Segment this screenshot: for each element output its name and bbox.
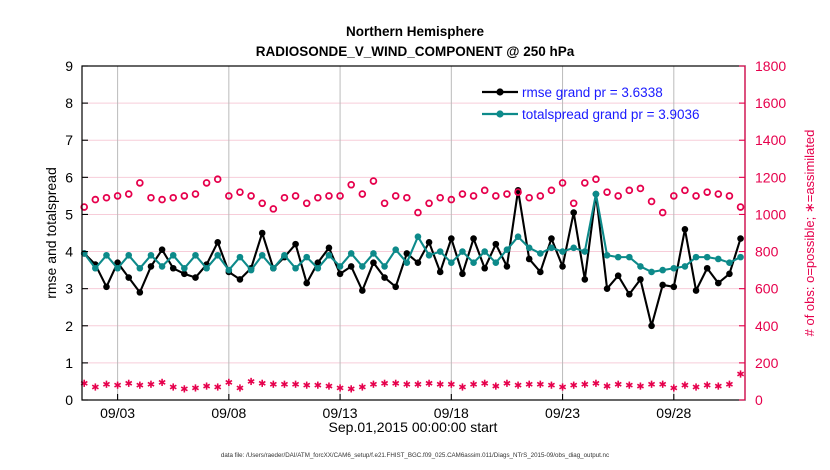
- data-point-marker: [437, 269, 444, 276]
- data-point-marker: [125, 274, 132, 281]
- data-point-marker: [481, 265, 488, 272]
- data-point-marker: [181, 265, 188, 272]
- data-point-marker: [493, 259, 500, 266]
- data-point-marker: [259, 252, 266, 259]
- data-point-marker: [137, 265, 144, 272]
- left-tick-label: 6: [65, 169, 73, 185]
- data-point-marker: [359, 263, 366, 270]
- data-point-marker: [693, 254, 700, 261]
- data-point-marker: [470, 259, 477, 266]
- data-point-marker: [337, 271, 344, 278]
- right-tick-label: 1600: [755, 95, 786, 111]
- data-point-marker: [559, 248, 566, 255]
- data-point-marker: [92, 265, 99, 272]
- bottom-tick-label: 09/08: [211, 405, 246, 421]
- right-tick-label: 200: [755, 355, 779, 371]
- bottom-tick-label: 09/28: [656, 405, 691, 421]
- chart-figure: Northern Hemisphere RADIOSONDE_V_WIND_CO…: [0, 0, 830, 470]
- data-point-marker: [615, 272, 622, 279]
- right-tick-label: 1800: [755, 58, 786, 74]
- data-point-marker: [570, 245, 577, 252]
- data-point-marker: [537, 269, 544, 276]
- data-point-marker: [637, 276, 644, 283]
- data-point-marker: [170, 265, 177, 272]
- data-point-marker: [237, 254, 244, 261]
- legend-item-label-0[interactable]: rmse grand pr = 3.6338: [522, 85, 663, 100]
- data-point-marker: [459, 248, 466, 255]
- data-point-marker: [315, 265, 322, 272]
- bottom-tick-label: 09/23: [545, 405, 580, 421]
- data-point-marker: [326, 252, 333, 259]
- data-point-marker: [270, 265, 277, 272]
- data-point-marker: [559, 263, 566, 270]
- data-point-marker: [671, 284, 678, 291]
- data-point-marker: [704, 265, 711, 272]
- data-point-marker: [381, 274, 388, 281]
- data-point-marker: [114, 265, 121, 272]
- data-point-marker: [415, 259, 422, 266]
- data-point-marker: [548, 235, 555, 242]
- right-tick-label: 1400: [755, 132, 786, 148]
- data-file-footer: data file: /Users/raeder/DAI/ATM_forcXX/…: [221, 452, 609, 459]
- data-point-marker: [214, 252, 221, 259]
- data-point-marker: [170, 252, 177, 259]
- data-point-marker: [715, 256, 722, 263]
- data-point-marker: [370, 250, 377, 257]
- data-point-marker: [604, 252, 611, 259]
- data-point-marker: [192, 274, 199, 281]
- data-point-marker: [404, 259, 411, 266]
- bottom-tick-label: 09/03: [100, 405, 135, 421]
- data-point-marker: [615, 254, 622, 261]
- right-tick-label: 400: [755, 318, 779, 334]
- data-point-marker: [259, 230, 266, 237]
- data-point-marker: [704, 254, 711, 261]
- data-point-marker: [726, 259, 733, 266]
- data-point-marker: [359, 287, 366, 294]
- data-point-marker: [203, 265, 210, 272]
- data-point-marker: [470, 235, 477, 242]
- right-tick-label: 800: [755, 244, 779, 260]
- data-point-marker: [426, 252, 433, 259]
- data-point-marker: [504, 246, 511, 253]
- data-point-marker: [137, 289, 144, 296]
- data-point-marker: [537, 250, 544, 257]
- data-point-marker: [103, 252, 110, 259]
- data-point-marker: [348, 263, 355, 270]
- data-point-marker: [148, 252, 155, 259]
- data-point-marker: [671, 265, 678, 272]
- right-tick-label: 0: [755, 392, 763, 408]
- left-tick-label: 8: [65, 95, 73, 111]
- data-point-marker: [593, 191, 600, 198]
- legend-swatch-marker: [496, 110, 503, 117]
- data-point-marker: [737, 254, 744, 261]
- data-point-marker: [148, 263, 155, 270]
- data-point-marker: [415, 233, 422, 240]
- right-tick-label: 1200: [755, 169, 786, 185]
- data-point-marker: [292, 241, 299, 248]
- right-axis-label: # of obs: o=possible; ∗=assimilated: [802, 130, 817, 337]
- data-point-marker: [348, 250, 355, 257]
- data-point-marker: [103, 284, 110, 291]
- data-point-marker: [159, 246, 166, 253]
- data-point-marker: [548, 245, 555, 252]
- data-point-marker: [648, 269, 655, 276]
- data-point-marker: [303, 280, 310, 287]
- data-point-marker: [459, 271, 466, 278]
- data-point-marker: [659, 267, 666, 274]
- left-tick-label: 0: [65, 392, 73, 408]
- data-point-marker: [481, 248, 488, 255]
- data-point-marker: [281, 252, 288, 259]
- left-tick-label: 5: [65, 206, 73, 222]
- data-point-marker: [125, 252, 132, 259]
- right-tick-label: 1000: [755, 206, 786, 222]
- data-point-marker: [726, 271, 733, 278]
- left-tick-label: 4: [65, 244, 73, 260]
- legend-swatch-marker: [496, 88, 503, 95]
- data-point-marker: [448, 235, 455, 242]
- data-point-marker: [493, 241, 500, 248]
- data-point-marker: [515, 233, 522, 240]
- left-axis-label: rmse and totalspread: [43, 167, 59, 299]
- data-point-marker: [303, 254, 310, 261]
- left-tick-label: 3: [65, 281, 73, 297]
- data-point-marker: [682, 263, 689, 270]
- data-point-marker: [370, 259, 377, 266]
- data-point-marker: [648, 322, 655, 329]
- data-point-marker: [392, 284, 399, 291]
- data-point-marker: [292, 265, 299, 272]
- left-tick-label: 7: [65, 132, 73, 148]
- right-tick-label: 600: [755, 281, 779, 297]
- data-point-marker: [426, 239, 433, 246]
- data-point-marker: [570, 209, 577, 216]
- legend-item-label-1[interactable]: totalspread grand pr = 3.9036: [522, 107, 700, 122]
- data-point-marker: [504, 263, 511, 270]
- data-point-marker: [626, 254, 633, 261]
- page-title-line2: RADIOSONDE_V_WIND_COMPONENT @ 250 hPa: [256, 44, 575, 59]
- left-tick-label: 1: [65, 355, 73, 371]
- data-point-marker: [226, 267, 233, 274]
- page-title-line1: Northern Hemisphere: [346, 24, 485, 39]
- data-point-marker: [626, 291, 633, 298]
- data-point-marker: [448, 259, 455, 266]
- bottom-axis-label: Sep.01,2015 00:00:00 start: [329, 419, 498, 435]
- left-tick-label: 2: [65, 318, 73, 334]
- data-point-marker: [392, 246, 399, 253]
- data-point-marker: [582, 276, 589, 283]
- data-point-marker: [582, 248, 589, 255]
- data-point-marker: [693, 287, 700, 294]
- data-point-marker: [526, 256, 533, 263]
- data-point-marker: [659, 282, 666, 289]
- data-point-marker: [715, 280, 722, 287]
- data-point-marker: [159, 263, 166, 270]
- data-point-marker: [214, 239, 221, 246]
- left-tick-label: 9: [65, 58, 73, 74]
- data-point-marker: [237, 276, 244, 283]
- data-point-marker: [192, 252, 199, 259]
- data-point-marker: [526, 245, 533, 252]
- data-point-marker: [737, 235, 744, 242]
- data-point-marker: [437, 248, 444, 255]
- data-point-marker: [248, 267, 255, 274]
- data-point-marker: [604, 285, 611, 292]
- data-point-marker: [337, 263, 344, 270]
- data-point-marker: [381, 263, 388, 270]
- data-point-marker: [682, 226, 689, 233]
- data-point-marker: [637, 263, 644, 270]
- data-point-marker: [326, 245, 333, 252]
